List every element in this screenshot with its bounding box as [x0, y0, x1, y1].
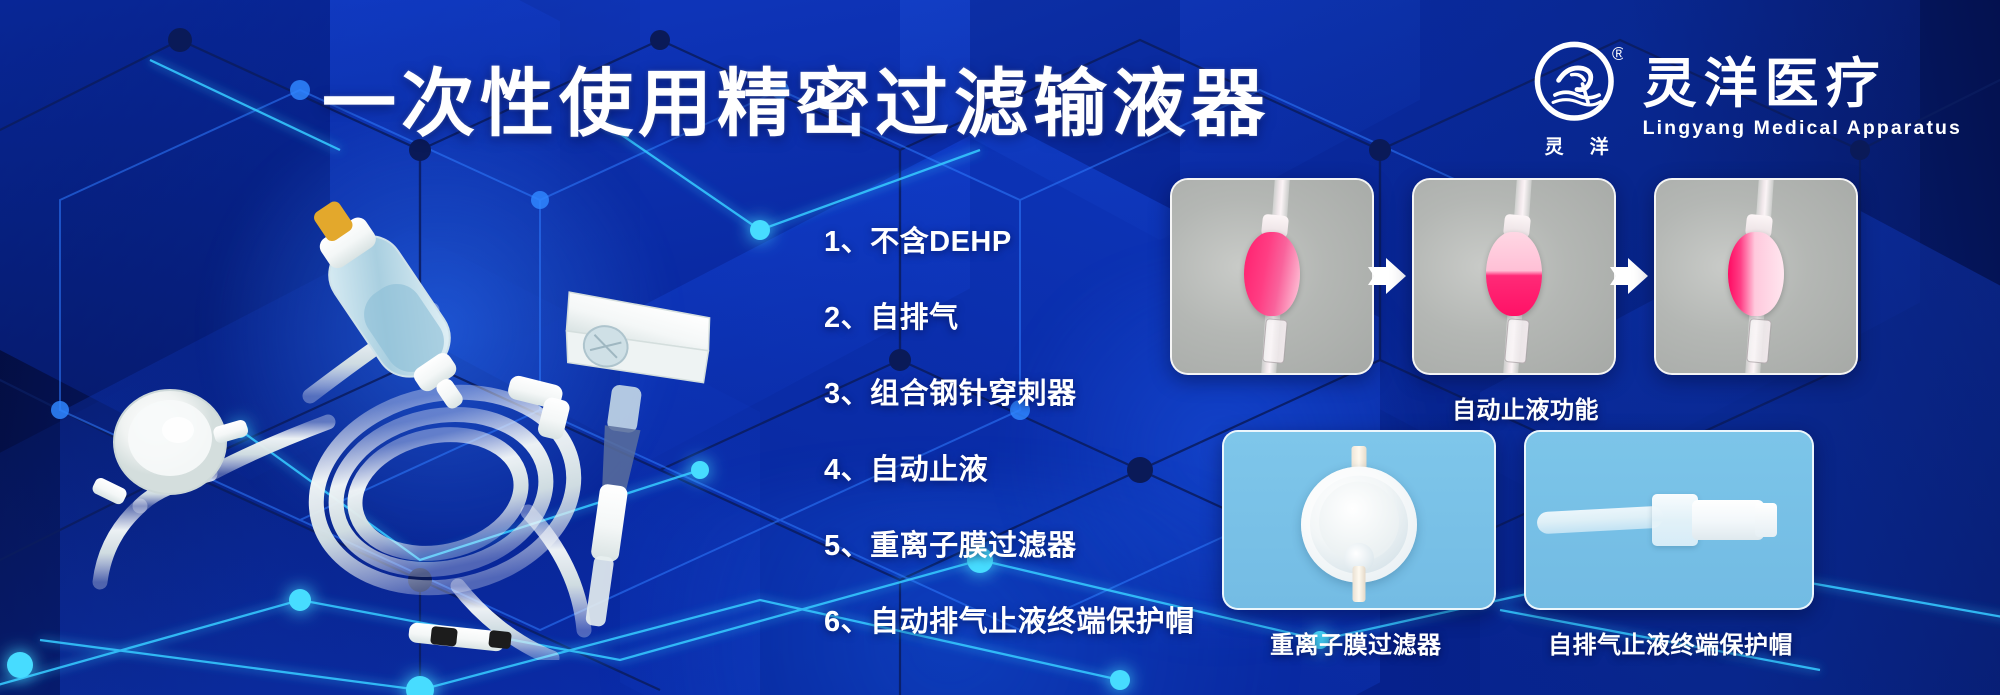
- brand-name-cn: 灵洋医疗: [1643, 57, 1887, 112]
- product-photo-filter: [1222, 430, 1496, 610]
- inline-filter: [91, 390, 250, 506]
- page-title: 一次性使用精密过滤输液器: [322, 44, 1270, 151]
- right-arrow-icon: [1606, 253, 1652, 299]
- product-photo-filter-caption: 重离子膜过滤器: [1270, 625, 1442, 660]
- feature-item: 3、组合钢针穿刺器: [824, 370, 1195, 412]
- iv-infusion-set-icon: [60, 190, 800, 660]
- logo-char-right: 洋: [1590, 132, 1609, 159]
- brand-name-en: Lingyang Medical Apparatus: [1643, 117, 1962, 140]
- right-arrow-icon: [1364, 253, 1410, 299]
- product-banner: 一次性使用精密过滤输液器 ® 灵 洋 灵洋医疗 Lingyang Medical…: [0, 0, 2000, 695]
- sequence-photo-1: [1170, 178, 1374, 375]
- product-photo-cap-caption: 自排气止液终端保护帽: [1548, 625, 1793, 660]
- sequence-caption: 自动止液功能: [1452, 390, 1599, 425]
- roller-clamp: [550, 279, 721, 400]
- lingyang-circular-wave-emblem-icon: ®: [1531, 38, 1623, 130]
- sequence-photo-3: [1654, 178, 1858, 375]
- feature-item: 5、重离子膜过滤器: [824, 522, 1195, 564]
- registered-mark: ®: [1612, 43, 1623, 64]
- main-product-image: [60, 190, 800, 660]
- feature-item: 4、自动止液: [824, 446, 1195, 488]
- logo-char-left: 灵: [1545, 132, 1564, 159]
- feature-list: 1、不含DEHP 2、自排气 3、组合钢针穿刺器 4、自动止液 5、重离子膜过滤…: [824, 218, 1195, 640]
- sequence-photo-2: [1412, 178, 1616, 375]
- brand-logo: ® 灵 洋 灵洋医疗 Lingyang Medical Apparatus: [1531, 38, 1962, 159]
- logo-emblem: ® 灵 洋: [1531, 38, 1623, 159]
- feature-item: 1、不含DEHP: [824, 218, 1195, 260]
- product-photo-cap: [1524, 430, 1814, 610]
- feature-item: 2、自排气: [824, 294, 1195, 336]
- needle-assembly: [577, 384, 646, 629]
- feature-item: 6、自动排气止液终端保护帽: [824, 598, 1195, 640]
